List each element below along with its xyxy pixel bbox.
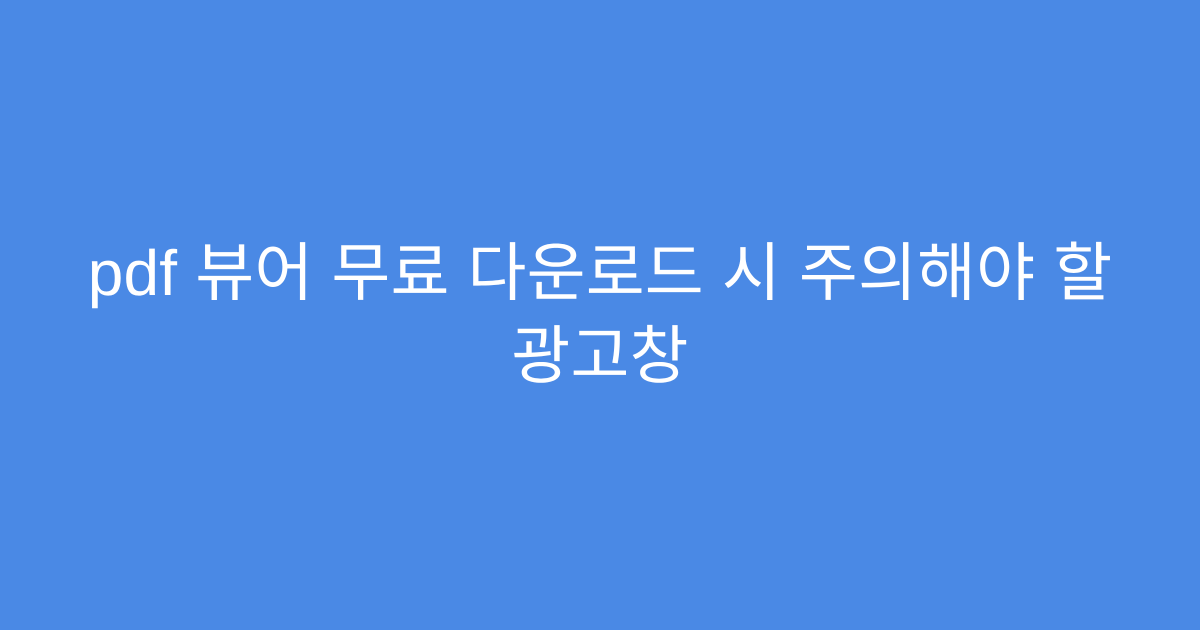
- page-title: pdf 뷰어 무료 다운로드 시 주의해야 할 광고창: [80, 232, 1120, 398]
- title-block: pdf 뷰어 무료 다운로드 시 주의해야 할 광고창: [70, 232, 1130, 398]
- thumbnail-card: pdf 뷰어 무료 다운로드 시 주의해야 할 광고창: [0, 0, 1200, 630]
